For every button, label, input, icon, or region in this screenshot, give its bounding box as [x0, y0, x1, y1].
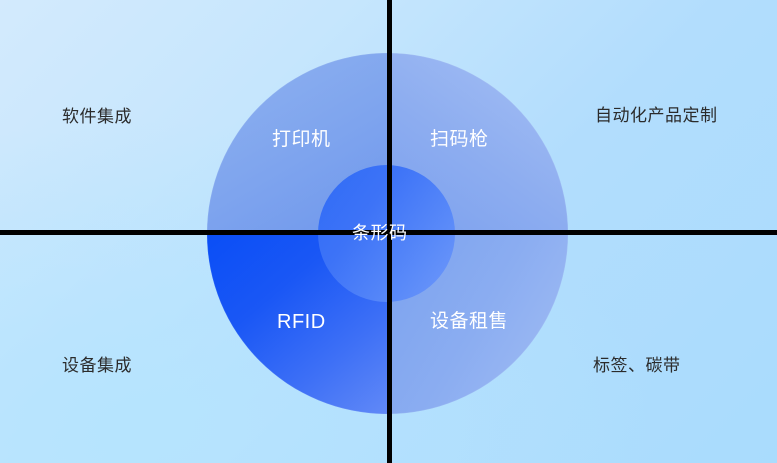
segment-label-printer: 打印机: [272, 130, 331, 149]
outer-label-labels-ribbon: 标签、碳带: [593, 357, 681, 374]
outer-label-automation-product-customization: 自动化产品定制: [595, 107, 718, 124]
segment-label-rfid: RFID: [277, 312, 326, 332]
segment-label-equipment-rental: 设备租售: [430, 312, 508, 331]
outer-label-software-integration: 软件集成: [62, 108, 132, 125]
outer-label-device-integration: 设备集成: [62, 357, 132, 374]
center-label-barcode: 条形码: [352, 224, 408, 242]
segment-label-scanner: 扫码枪: [430, 130, 489, 149]
diagram-canvas: 打印机 扫码枪 RFID 设备租售 条形码 软件集成 自动化产品定制 设备集成 …: [0, 0, 777, 463]
